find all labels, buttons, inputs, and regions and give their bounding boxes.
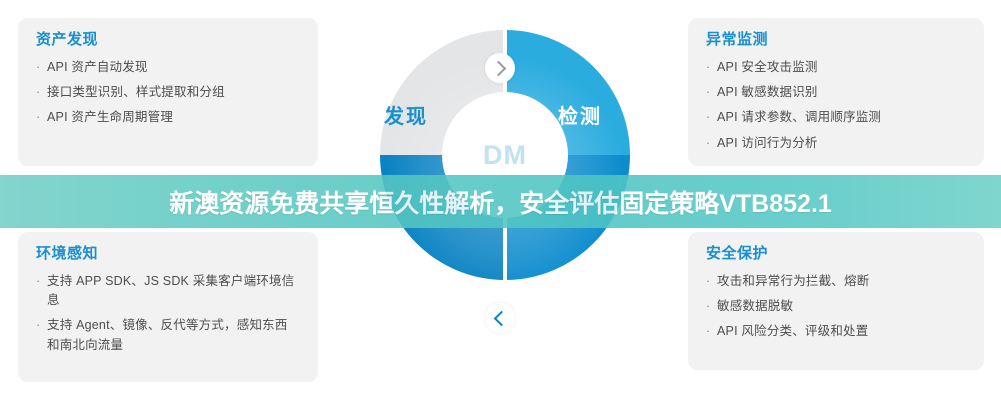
- chevron-glyph: [491, 60, 507, 76]
- bullet-dot: ·: [36, 58, 40, 77]
- card-bullet-list: ·API 资产自动发现 ·接口类型识别、样式提取和分组 ·API 资产生命周期管…: [36, 58, 300, 128]
- list-item: ·API 资产生命周期管理: [36, 108, 300, 127]
- list-item-text: 接口类型识别、样式提取和分组: [47, 85, 225, 99]
- list-item: ·支持 Agent、镜像、反代等方式，感知东西和南北向流量: [36, 316, 300, 355]
- list-item: ·支持 APP SDK、JS SDK 采集客户端环境信息: [36, 272, 300, 311]
- card-security-protection: 安全保护 ·攻击和异常行为拦截、熔断 ·敏感数据脱敏 ·API 风险分类、评级和…: [688, 232, 984, 370]
- bullet-dot: ·: [706, 108, 710, 127]
- card-asset-discovery: 资产发现 ·API 资产自动发现 ·接口类型识别、样式提取和分组 ·API 资产…: [18, 18, 318, 166]
- list-item-text: API 敏感数据识别: [717, 85, 818, 99]
- quadrant-label-sense: 感知: [384, 274, 428, 303]
- card-environment-awareness: 环境感知 ·支持 APP SDK、JS SDK 采集客户端环境信息 ·支持 Ag…: [18, 232, 318, 382]
- quadrant-label-detect: 检测: [558, 100, 602, 129]
- chevron-right-icon[interactable]: [485, 53, 515, 83]
- bullet-dot: ·: [36, 316, 40, 335]
- list-item: ·API 请求参数、调用顺序监测: [706, 108, 966, 127]
- list-item-text: API 访问行为分析: [717, 136, 818, 150]
- card-anomaly-monitoring: 异常监测 ·API 安全攻击监测 ·API 敏感数据识别 ·API 请求参数、调…: [688, 18, 984, 166]
- bullet-dot: ·: [706, 134, 710, 153]
- bullet-dot: ·: [706, 322, 710, 341]
- list-item: ·敏感数据脱敏: [706, 297, 966, 316]
- list-item: ·API 敏感数据识别: [706, 83, 966, 102]
- list-item-text: 敏感数据脱敏: [717, 299, 793, 313]
- card-title: 安全保护: [706, 246, 966, 263]
- list-item-text: 支持 Agent、镜像、反代等方式，感知东西和南北向流量: [47, 318, 288, 351]
- donut-center-label: DM: [483, 140, 527, 171]
- list-item: ·API 访问行为分析: [706, 134, 966, 153]
- card-bullet-list: ·API 安全攻击监测 ·API 敏感数据识别 ·API 请求参数、调用顺序监测…: [706, 58, 966, 154]
- list-item-text: 攻击和异常行为拦截、熔断: [717, 274, 869, 288]
- watermark-banner-text: 新澳资源免费共享恒久性解析，安全评估固定策略VTB852.1: [169, 184, 832, 220]
- bullet-dot: ·: [36, 108, 40, 127]
- bullet-dot: ·: [706, 272, 710, 291]
- card-title: 异常监测: [706, 32, 966, 49]
- bullet-dot: ·: [706, 297, 710, 316]
- bullet-dot: ·: [36, 83, 40, 102]
- chevron-left-icon[interactable]: [485, 303, 515, 333]
- card-title: 环境感知: [36, 246, 300, 263]
- bullet-dot: ·: [706, 58, 710, 77]
- quadrant-label-protect: 保护: [558, 274, 602, 303]
- list-item-text: API 风险分类、评级和处置: [717, 324, 868, 338]
- diagram-stage: 资产发现 ·API 资产自动发现 ·接口类型识别、样式提取和分组 ·API 资产…: [0, 0, 1001, 400]
- list-item-text: API 资产自动发现: [47, 60, 148, 74]
- list-item: ·接口类型识别、样式提取和分组: [36, 83, 300, 102]
- list-item: ·API 安全攻击监测: [706, 58, 966, 77]
- list-item-text: API 请求参数、调用顺序监测: [717, 110, 881, 124]
- quadrant-label-discover: 发现: [384, 100, 428, 129]
- list-item: ·API 资产自动发现: [36, 58, 300, 77]
- watermark-banner: 新澳资源免费共享恒久性解析，安全评估固定策略VTB852.1: [0, 175, 1001, 228]
- bullet-dot: ·: [706, 83, 710, 102]
- list-item-text: API 资产生命周期管理: [47, 110, 173, 124]
- chevron-glyph: [494, 310, 510, 326]
- card-title: 资产发现: [36, 32, 300, 49]
- card-bullet-list: ·攻击和异常行为拦截、熔断 ·敏感数据脱敏 ·API 风险分类、评级和处置: [706, 272, 966, 342]
- list-item: ·API 风险分类、评级和处置: [706, 322, 966, 341]
- card-bullet-list: ·支持 APP SDK、JS SDK 采集客户端环境信息 ·支持 Agent、镜…: [36, 272, 300, 356]
- list-item: ·攻击和异常行为拦截、熔断: [706, 272, 966, 291]
- bullet-dot: ·: [36, 272, 40, 291]
- list-item-text: API 安全攻击监测: [717, 60, 818, 74]
- list-item-text: 支持 APP SDK、JS SDK 采集客户端环境信息: [47, 274, 294, 307]
